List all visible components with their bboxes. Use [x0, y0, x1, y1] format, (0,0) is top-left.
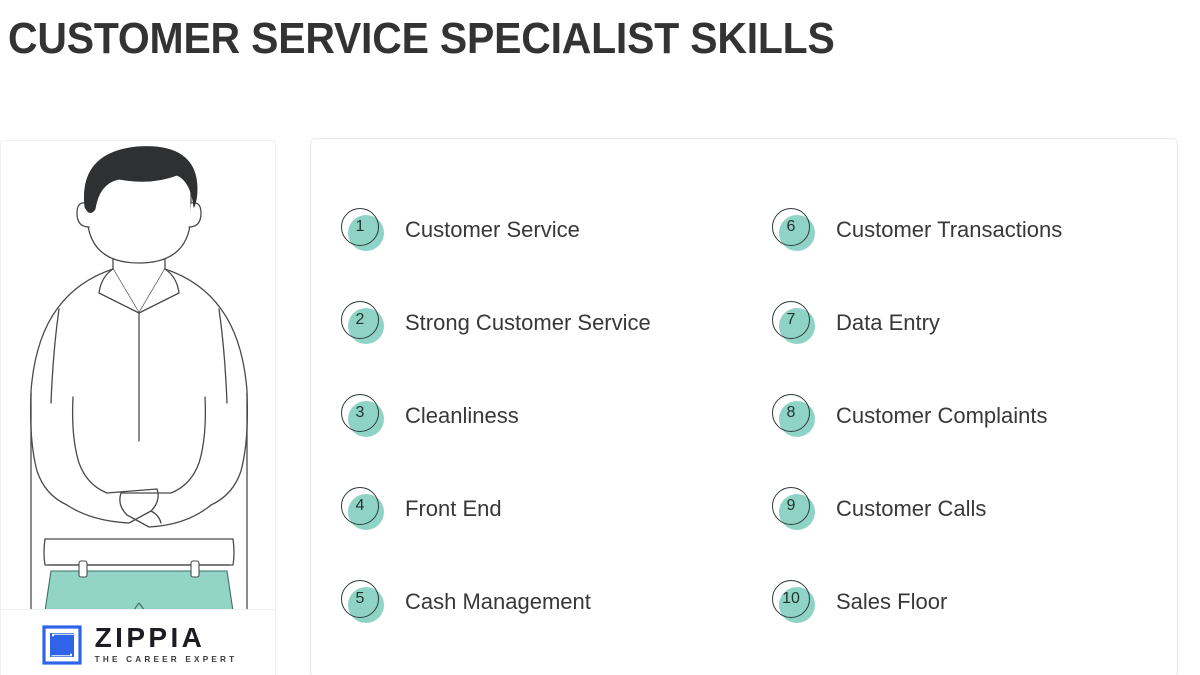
skill-item-3: 3 Cleanliness — [311, 369, 744, 462]
skill-label: Customer Service — [405, 216, 580, 244]
skill-item-2: 2 Strong Customer Service — [311, 276, 744, 369]
page-title: CUSTOMER SERVICE SPECIALIST SKILLS — [8, 14, 835, 64]
skill-label: Customer Calls — [836, 495, 986, 523]
skill-number-badge: 3 — [341, 394, 385, 438]
skill-label: Cash Management — [405, 588, 591, 616]
skill-item-5: 5 Cash Management — [311, 556, 744, 649]
skill-number-badge: 7 — [772, 301, 816, 345]
zippia-wordmark: ZIPPIA — [95, 623, 206, 653]
badge-number: 9 — [772, 487, 810, 525]
skill-item-10: 10 Sales Floor — [744, 556, 1177, 649]
skill-label: Front End — [405, 495, 502, 523]
skill-number-badge: 4 — [341, 487, 385, 531]
skill-label: Strong Customer Service — [405, 309, 651, 337]
badge-number: 7 — [772, 301, 810, 339]
skill-item-1: 1 Customer Service — [311, 183, 744, 276]
zippia-z-mark-icon — [41, 624, 83, 666]
skill-label: Data Entry — [836, 309, 940, 337]
badge-number: 10 — [772, 580, 810, 618]
badge-number: 2 — [341, 301, 379, 339]
skill-item-6: 6 Customer Transactions — [744, 183, 1177, 276]
skill-number-badge: 8 — [772, 394, 816, 438]
badge-number: 8 — [772, 394, 810, 432]
illustration-panel: ZIPPIA THE CAREER EXPERT — [0, 140, 276, 675]
skill-label: Cleanliness — [405, 402, 519, 430]
skill-number-badge: 9 — [772, 487, 816, 531]
skills-grid: 1 Customer Service 6 Customer Transactio… — [311, 139, 1177, 675]
skill-number-badge: 6 — [772, 208, 816, 252]
zippia-tagline: THE CAREER EXPERT — [95, 654, 238, 666]
skill-item-4: 4 Front End — [311, 463, 744, 556]
skill-item-8: 8 Customer Complaints — [744, 369, 1177, 462]
skill-number-badge: 5 — [341, 580, 385, 624]
skills-infographic-page: CUSTOMER SERVICE SPECIALIST SKILLS — [0, 0, 1200, 675]
skill-label: Customer Transactions — [836, 216, 1062, 244]
badge-number: 1 — [341, 208, 379, 246]
badge-number: 5 — [341, 580, 379, 618]
skill-label: Sales Floor — [836, 588, 947, 616]
badge-number: 4 — [341, 487, 379, 525]
skill-item-9: 9 Customer Calls — [744, 463, 1177, 556]
skill-item-7: 7 Data Entry — [744, 276, 1177, 369]
zippia-logo[interactable]: ZIPPIA THE CAREER EXPERT — [1, 609, 276, 675]
skill-number-badge: 10 — [772, 580, 816, 624]
skill-label: Customer Complaints — [836, 402, 1048, 430]
skill-number-badge: 1 — [341, 208, 385, 252]
badge-number: 6 — [772, 208, 810, 246]
skill-number-badge: 2 — [341, 301, 385, 345]
skills-card: 1 Customer Service 6 Customer Transactio… — [310, 138, 1178, 675]
person-illustration — [1, 141, 276, 611]
badge-number: 3 — [341, 394, 379, 432]
